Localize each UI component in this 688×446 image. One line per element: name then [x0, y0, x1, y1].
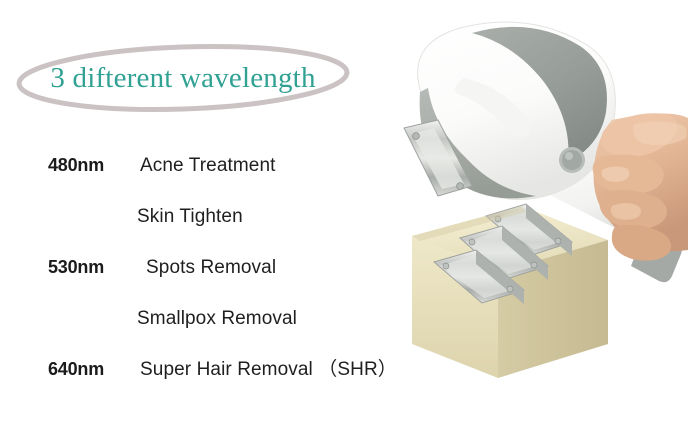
page-title: 3 difterent wavelength [14, 42, 352, 114]
spec-row-530: 530nm Spots Removal [0, 242, 420, 293]
handpiece-button[interactable] [559, 147, 585, 173]
spec-row-smallpox: Smallpox Removal [0, 293, 420, 344]
product-infographic: 3 difterent wavelength 480nm Acne Treatm… [0, 0, 688, 446]
treatment-label-acne: Acne Treatment [140, 140, 276, 191]
spec-row-640: 640nm Super Hair Removal （SHR） [0, 344, 420, 395]
wavelength-label-480: 480nm [48, 140, 104, 191]
wavelength-spec-list: 480nm Acne Treatment Skin Tighten 530nm … [0, 140, 420, 395]
treatment-label-shr: Super Hair Removal （SHR） [140, 344, 397, 395]
filter-case [412, 204, 608, 378]
wavelength-label-530: 530nm [48, 242, 104, 293]
spec-row-skin-tighten: Skin Tighten [0, 191, 420, 242]
ipl-handpiece-photo [376, 0, 688, 446]
treatment-label-spots: Spots Removal [146, 242, 276, 293]
hand [593, 113, 688, 260]
wavelength-label-640: 640nm [48, 344, 104, 395]
treatment-label-skin-tighten: Skin Tighten [137, 191, 243, 242]
treatment-label-smallpox: Smallpox Removal [137, 293, 297, 344]
spec-row-480: 480nm Acne Treatment [0, 140, 420, 191]
title-block: 3 difterent wavelength [14, 42, 352, 114]
